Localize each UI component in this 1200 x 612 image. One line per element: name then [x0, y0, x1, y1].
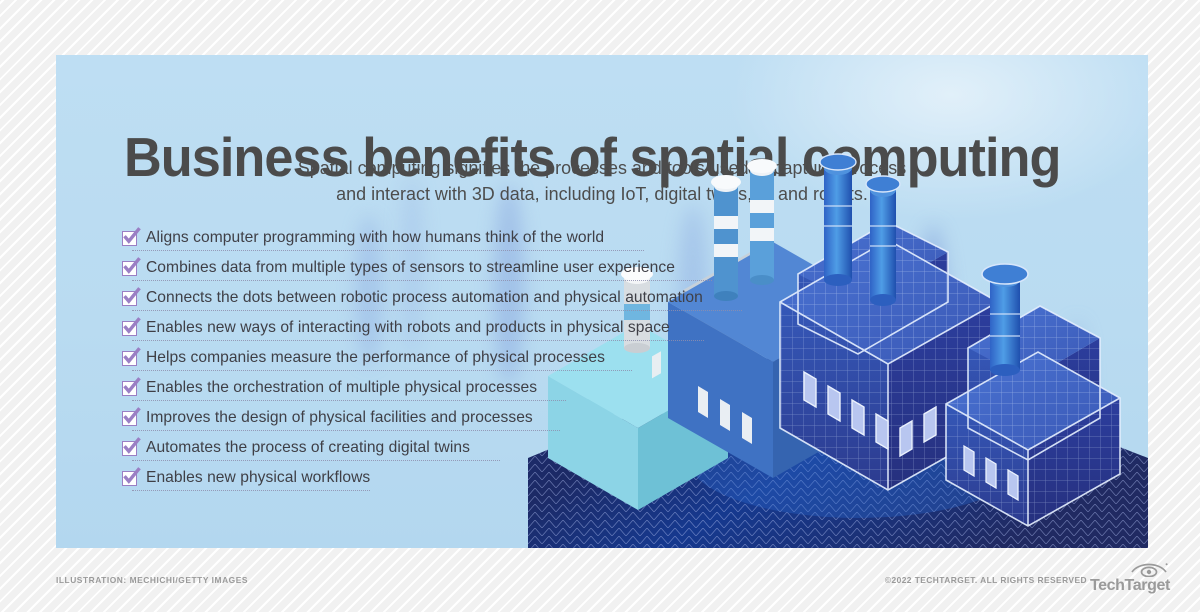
benefit-item: Helps companies measure the performance …: [122, 347, 802, 371]
smoke-plume-5: [816, 295, 842, 445]
checkmark-icon: [122, 261, 137, 276]
benefit-item: Enables new ways of interacting with rob…: [122, 317, 802, 341]
benefit-item: Connects the dots between robotic proces…: [122, 287, 802, 311]
benefit-divider: [132, 430, 560, 431]
benefit-divider: [132, 340, 704, 341]
benefit-item: Enables new physical workflows: [122, 467, 802, 491]
benefit-item: Enables the orchestration of multiple ph…: [122, 377, 802, 401]
infographic-panel: Business benefits of spatial computing S…: [56, 55, 1148, 548]
benefit-label: Combines data from multiple types of sen…: [146, 257, 675, 278]
benefit-label: Aligns computer programming with how hum…: [146, 227, 604, 248]
techtarget-wordmark: TechTarget: [1090, 577, 1170, 595]
benefits-list: Aligns computer programming with how hum…: [122, 227, 802, 497]
benefit-item: Aligns computer programming with how hum…: [122, 227, 802, 251]
subtitle-line-2: and interact with 3D data, including IoT…: [72, 181, 1131, 207]
smoke-plume-7: [1066, 320, 1088, 460]
benefit-label: Enables new physical workflows: [146, 467, 370, 488]
eye-icon: [1130, 561, 1170, 577]
subtitle-line-1: Spatial computing signifies the processe…: [72, 155, 1131, 181]
benefit-label: Enables new ways of interacting with rob…: [146, 317, 670, 338]
checkmark-icon: [122, 231, 137, 246]
checkmark-icon: [122, 471, 137, 486]
benefit-label: Automates the process of creating digita…: [146, 437, 470, 458]
benefit-label: Helps companies measure the performance …: [146, 347, 605, 368]
checkmark-icon: [122, 291, 137, 306]
smoke-plume-6: [916, 225, 950, 455]
page-canvas: Business benefits of spatial computing S…: [0, 0, 1200, 612]
benefit-divider: [132, 490, 370, 491]
benefit-item: Combines data from multiple types of sen…: [122, 257, 802, 281]
benefit-divider: [132, 250, 644, 251]
benefit-label: Enables the orchestration of multiple ph…: [146, 377, 537, 398]
benefit-divider: [132, 370, 632, 371]
illustration-credit: ILLUSTRATION: MECHICHI/GETTY IMAGES: [56, 575, 248, 585]
benefit-item: Improves the design of physical faciliti…: [122, 407, 802, 431]
techtarget-logo[interactable]: TechTarget: [1090, 561, 1182, 595]
page-subtitle: Spatial computing signifies the processe…: [72, 155, 1131, 207]
benefit-divider: [132, 310, 742, 311]
benefit-item: Automates the process of creating digita…: [122, 437, 802, 461]
checkmark-icon: [122, 321, 137, 336]
checkmark-icon: [122, 351, 137, 366]
benefit-label: Connects the dots between robotic proces…: [146, 287, 703, 308]
checkmark-icon: [122, 441, 137, 456]
checkmark-icon: [122, 381, 137, 396]
checkmark-icon: [122, 411, 137, 426]
benefit-divider: [132, 280, 712, 281]
benefit-divider: [132, 460, 500, 461]
copyright-notice: ©2022 TECHTARGET. ALL RIGHTS RESERVED: [885, 575, 1087, 585]
benefit-divider: [132, 400, 566, 401]
benefit-label: Improves the design of physical faciliti…: [146, 407, 533, 428]
